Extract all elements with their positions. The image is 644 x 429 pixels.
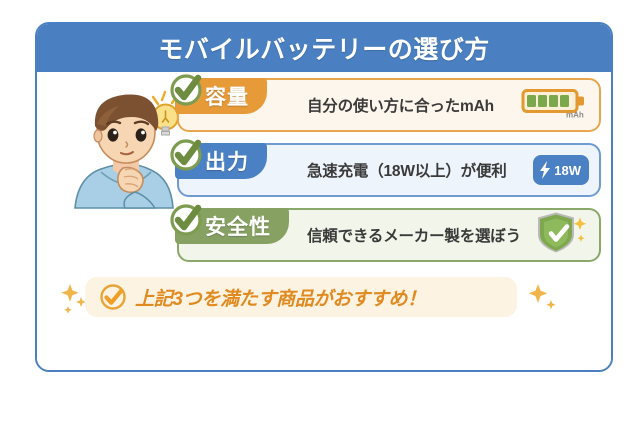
shield-check-svg xyxy=(531,209,589,257)
sparkle-icon xyxy=(525,280,559,316)
criteria-text-output: 急速充電（18W以上）が便利 xyxy=(307,159,507,181)
output-power-badge: 18W xyxy=(533,155,589,185)
shield-check-icon xyxy=(531,209,589,262)
battery-level-icon: mAh xyxy=(521,86,589,125)
criteria-row-output[interactable]: 出力 急速充電（18W以上）が便利 18W xyxy=(177,143,601,197)
card-body: 容量 自分の使い方に合ったmAh mAh xyxy=(37,72,611,372)
criteria-label-text: 出力 xyxy=(205,146,249,176)
sparkle-icon xyxy=(574,218,586,242)
criteria-text-safety: 信頼できるメーカー製を選ぼう xyxy=(307,224,521,246)
criteria-label-text: 安全性 xyxy=(205,211,271,241)
criteria-row-safety[interactable]: 安全性 信頼できるメーカー製を選ぼう xyxy=(177,208,601,262)
badge-18w: 18W xyxy=(533,155,589,185)
check-circle-icon xyxy=(167,134,207,174)
recommendation-banner: 上記3つを満たす商品がおすすめ！ xyxy=(85,277,517,317)
criteria-list: 容量 自分の使い方に合ったmAh mAh xyxy=(177,78,601,273)
card-header: モバイルバッテリーの選び方 xyxy=(37,24,611,72)
recommendation-text: 上記3つを満たす商品がおすすめ！ xyxy=(135,284,426,311)
criteria-text-capacity: 自分の使い方に合ったmAh xyxy=(307,94,494,116)
battery-level-svg: mAh xyxy=(521,86,589,120)
circle-check-icon xyxy=(99,283,127,311)
criteria-label-text: 容量 xyxy=(205,81,249,111)
battery-icon-caption: mAh xyxy=(566,111,584,120)
badge-18w-label: 18W xyxy=(554,163,581,178)
check-circle-icon xyxy=(167,199,207,239)
infographic-card: モバイルバッテリーの選び方 xyxy=(35,22,613,372)
check-circle-icon xyxy=(167,69,207,109)
infographic-canvas: モバイルバッテリーの選び方 xyxy=(0,0,644,429)
page-title: モバイルバッテリーの選び方 xyxy=(158,30,490,66)
criteria-row-capacity[interactable]: 容量 自分の使い方に合ったmAh mAh xyxy=(177,78,601,132)
lightning-bolt-icon xyxy=(538,160,552,180)
